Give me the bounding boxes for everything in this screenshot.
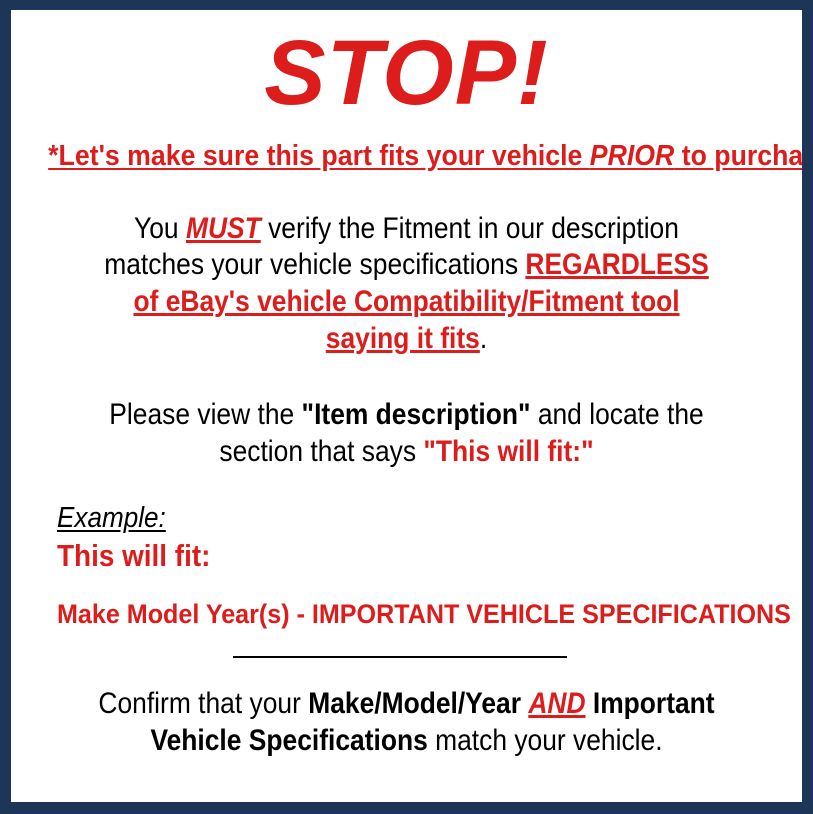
divider-wrap [11, 630, 802, 658]
paragraph-view-item-description: Please view the "Item description" and l… [58, 357, 754, 470]
example-fit-heading: This will fit: [57, 538, 728, 574]
paragraph-donor-vin: The donor VIN in the listing can also be… [58, 800, 754, 802]
emphasis-must: MUST [186, 212, 261, 245]
quote-item-description: "Item description" [302, 398, 531, 431]
confirm-seg-1: Confirm that your [98, 687, 308, 720]
example-spec-line: Make Model Year(s) - IMPORTANT VEHICLE S… [57, 599, 750, 630]
emphasis-and: AND [528, 687, 585, 720]
subtitle-banner: *Let's make sure this part fits your veh… [43, 119, 771, 173]
bold-make-model-year: Make/Model/Year [308, 687, 521, 720]
subtitle-lead-asterisk: * [48, 140, 58, 172]
must-seg-1: You [134, 212, 186, 245]
subtitle-emphasis-prior: PRIOR [590, 140, 674, 172]
example-block: Example: This will fit: Make Model Year(… [11, 470, 802, 630]
example-label: Example: [57, 502, 166, 535]
subtitle-part-a: Let's make sure this part fits your vehi… [59, 140, 590, 172]
confirm-seg-2 [521, 687, 528, 720]
subtitle-part-b: to purchasing [674, 140, 802, 172]
paragraph-confirm-match: Confirm that your Make/Model/Year AND Im… [58, 686, 754, 759]
confirm-seg-4: match your vehicle. [428, 724, 663, 757]
stop-heading: STOP! [11, 10, 802, 119]
must-seg-3: . [480, 322, 487, 355]
notice-border-frame: STOP! *Let's make sure this part fits yo… [0, 0, 813, 814]
section-divider [233, 656, 567, 658]
view-seg-1: Please view the [109, 398, 301, 431]
quote-this-will-fit: "This will fit:" [423, 435, 593, 468]
paragraph-must-verify: You MUST verify the Fitment in our descr… [58, 173, 754, 357]
fitment-notice-card: STOP! *Let's make sure this part fits yo… [11, 10, 802, 802]
